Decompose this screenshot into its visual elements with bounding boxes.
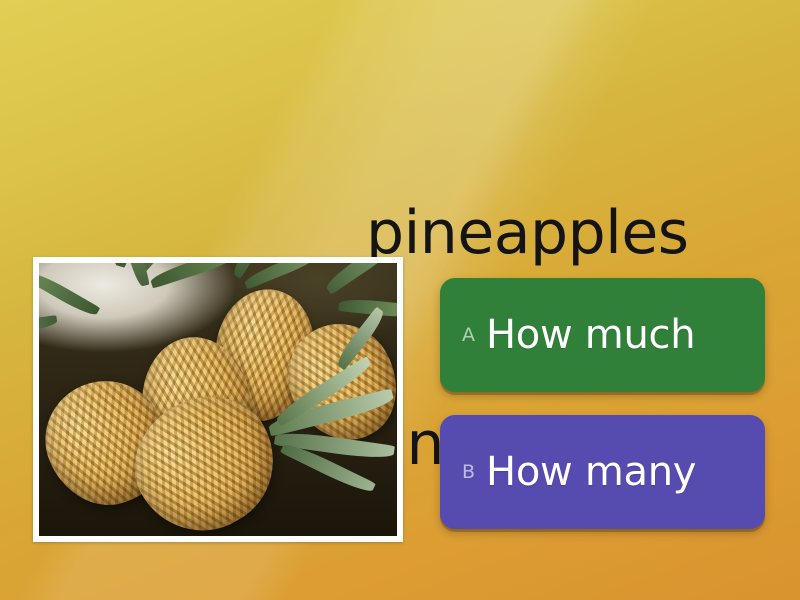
answer-label-b: How many <box>486 451 696 493</box>
answer-key-b: B <box>462 463 475 482</box>
answer-option-b[interactable]: B How many <box>440 415 765 529</box>
answer-label-a: How much <box>486 314 695 356</box>
quiz-slide: ________ pineapples ____ there in the ba… <box>0 0 800 600</box>
answer-key-a: A <box>462 326 475 345</box>
question-image-frame <box>33 257 403 542</box>
answer-option-a[interactable]: A How much <box>440 278 765 392</box>
answer-options: A How much B How many <box>440 278 765 529</box>
pineapple-image <box>39 263 397 536</box>
